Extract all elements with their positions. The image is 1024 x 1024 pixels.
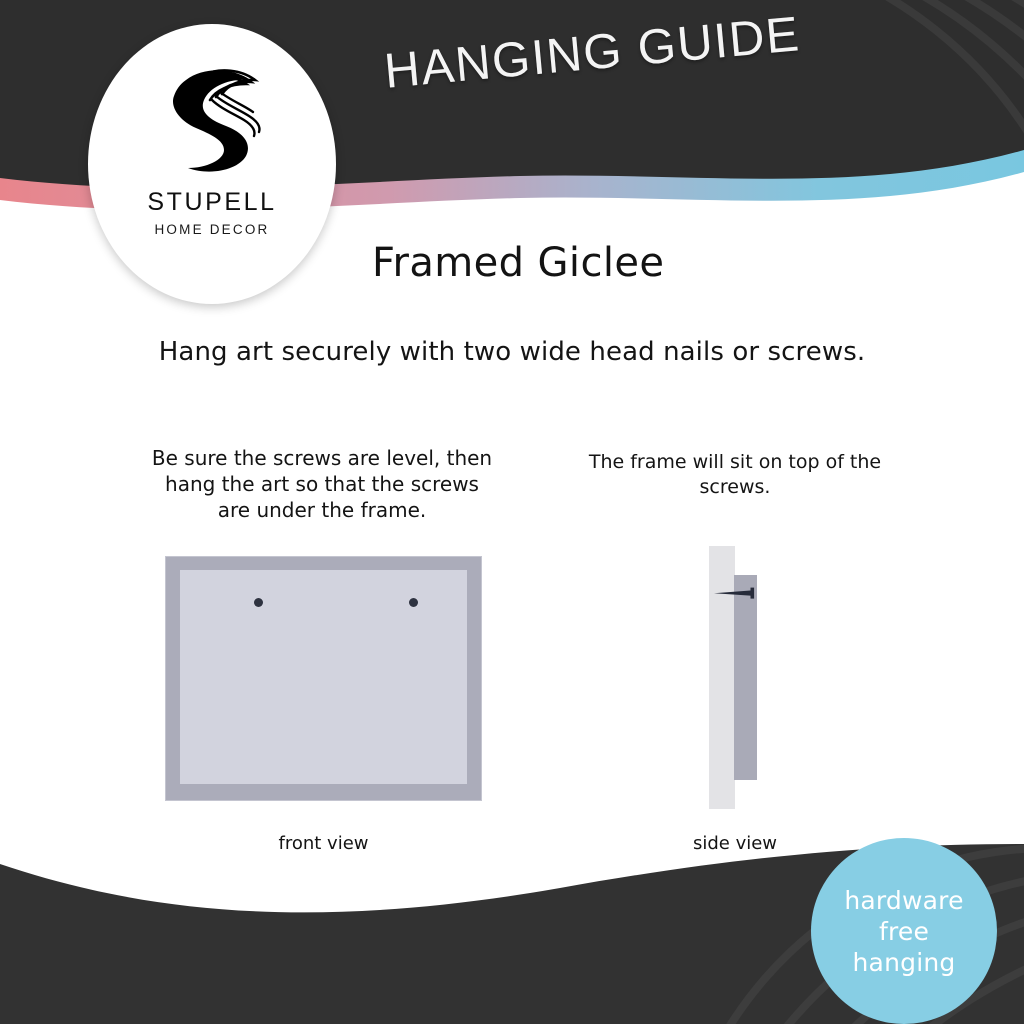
screw-dot-right <box>409 598 418 607</box>
nail-icon <box>712 587 760 599</box>
stupell-swoosh-logo-icon <box>152 58 272 178</box>
front-view-mat <box>180 570 467 784</box>
brand-logo-badge: STUPELL HOME DECOR <box>88 24 336 304</box>
badge-line-3: hanging <box>853 947 956 978</box>
side-view-instruction: The frame will sit on top of the screws. <box>578 450 892 500</box>
brand-subtitle: HOME DECOR <box>154 222 269 237</box>
front-view-label: front view <box>165 833 482 854</box>
badge-line-2: free <box>879 916 929 947</box>
front-view-diagram <box>165 556 482 801</box>
front-view-instruction: Be sure the screws are level, then hang … <box>150 445 494 523</box>
side-view-wall <box>709 546 735 809</box>
side-view-diagram <box>690 546 785 811</box>
screw-dot-left <box>254 598 263 607</box>
page-title: HANGING GUIDE <box>382 6 802 100</box>
product-name: Framed Giclee <box>372 240 664 286</box>
side-view-frame <box>734 575 757 780</box>
intro-instruction: Hang art securely with two wide head nai… <box>0 337 1024 367</box>
hardware-free-hanging-badge: hardware free hanging <box>811 838 997 1024</box>
brand-name: STUPELL <box>147 188 276 217</box>
side-view-label: side view <box>660 833 810 854</box>
hanging-guide-page: STUPELL HOME DECOR HANGING GUIDE Framed … <box>0 0 1024 1024</box>
badge-line-1: hardware <box>844 885 963 916</box>
